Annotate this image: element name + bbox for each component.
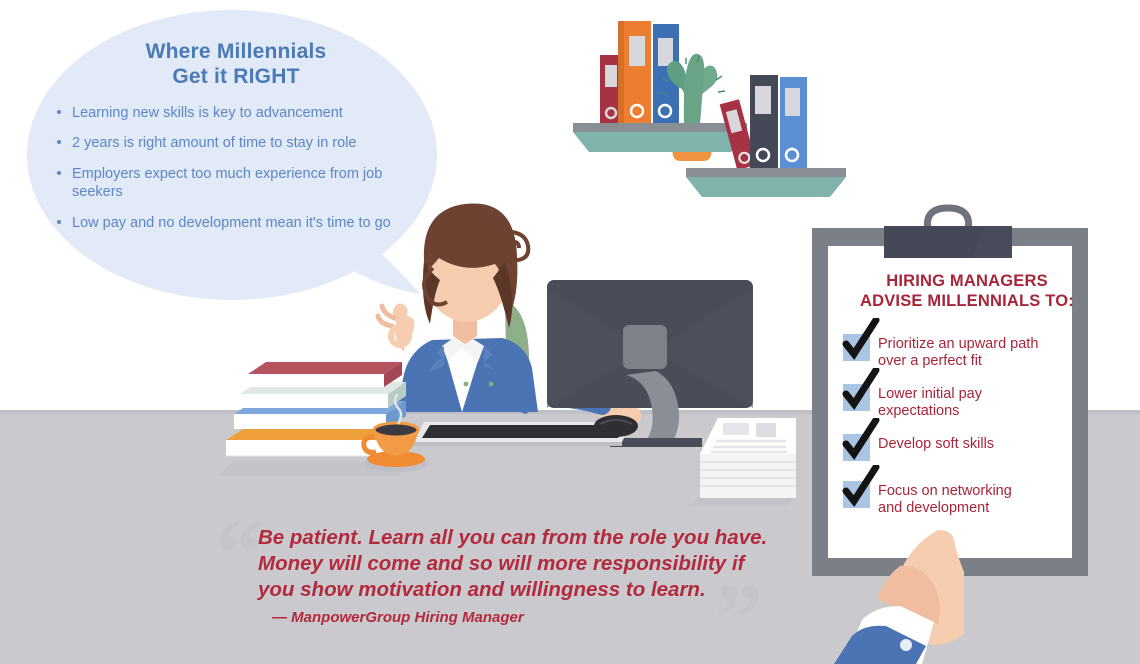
speech-bubble-content: Where Millennials Get it RIGHT Learning … xyxy=(56,40,416,244)
checklist-item-3: Develop soft skills xyxy=(843,434,1083,461)
bubble-bullet-1: Learning new skills is key to advancemen… xyxy=(56,104,416,123)
checkbox-4 xyxy=(843,481,870,508)
checklist-item-4-label: Focus on networking and development xyxy=(878,481,1012,517)
binder-dark-lower xyxy=(750,75,778,168)
bubble-bullet-4: Low pay and no development mean it's tim… xyxy=(56,214,416,233)
pull-quote: Be patient. Learn all you can from the r… xyxy=(258,525,818,626)
checkmark-icon xyxy=(840,368,880,412)
monitor-stand-base xyxy=(610,438,702,447)
bubble-bullet-1-label: Learning new skills is key to advancemen… xyxy=(72,105,343,121)
checkmark-icon xyxy=(840,418,880,462)
checkmark-icon xyxy=(840,465,880,509)
bubble-bullet-list: Learning new skills is key to advancemen… xyxy=(56,104,416,233)
shelf-bracket-lower xyxy=(686,177,846,197)
checklist-item-3-label: Develop soft skills xyxy=(878,434,994,453)
bubble-bullet-4-label: Low pay and no development mean it's tim… xyxy=(72,215,391,231)
checklist-item-2: Lower initial pay expectations xyxy=(843,384,1083,420)
quote-attribution: — ManpowerGroup Hiring Manager xyxy=(272,609,818,626)
bubble-bullet-3: Employers expect too much experience fro… xyxy=(56,165,416,202)
book-red xyxy=(248,362,402,387)
checkmark-icon xyxy=(840,318,880,362)
clipboard-heading: HIRING MANAGERS ADVISE MILLENNIALS TO: xyxy=(852,272,1082,312)
checkbox-1 xyxy=(843,334,870,361)
quote-open-mark: “ xyxy=(215,505,263,601)
checkbox-2 xyxy=(843,384,870,411)
computer-mouse xyxy=(594,415,638,437)
shelf-bracket-upper xyxy=(573,132,747,152)
checklist-item-4: Focus on networking and development xyxy=(843,481,1083,517)
bullet-dot-icon xyxy=(57,220,61,224)
papers-edge-stack xyxy=(700,454,796,498)
bubble-bullet-2: 2 years is right amount of time to stay … xyxy=(56,134,416,153)
binder-blue-lower xyxy=(780,77,807,168)
quote-body: Be patient. Learn all you can from the r… xyxy=(258,525,818,604)
shelf-board-top-lower xyxy=(686,168,846,177)
sleeve-button xyxy=(900,639,912,651)
bullet-dot-icon xyxy=(57,171,61,175)
button-upper xyxy=(464,382,469,387)
binder-orange-upper xyxy=(618,21,651,123)
shelf-board-top-upper xyxy=(573,123,747,132)
checklist-item-1-label: Prioritize an upward path over a perfect… xyxy=(878,334,1038,370)
checklist-item-2-label: Lower initial pay expectations xyxy=(878,384,982,420)
monitor-vesa-mount xyxy=(623,325,667,369)
infographic-canvas: Where Millennials Get it RIGHT Learning … xyxy=(0,0,1140,664)
bullet-dot-icon xyxy=(57,140,61,144)
checkbox-3 xyxy=(843,434,870,461)
bubble-heading: Where Millennials Get it RIGHT xyxy=(56,40,416,90)
bubble-bullet-2-label: 2 years is right amount of time to stay … xyxy=(72,135,357,151)
bubble-bullet-3-label: Employers expect too much experience fro… xyxy=(72,166,382,201)
checklist-item-1: Prioritize an upward path over a perfect… xyxy=(843,334,1083,370)
bullet-dot-icon xyxy=(57,110,61,114)
button-lower xyxy=(489,382,494,387)
